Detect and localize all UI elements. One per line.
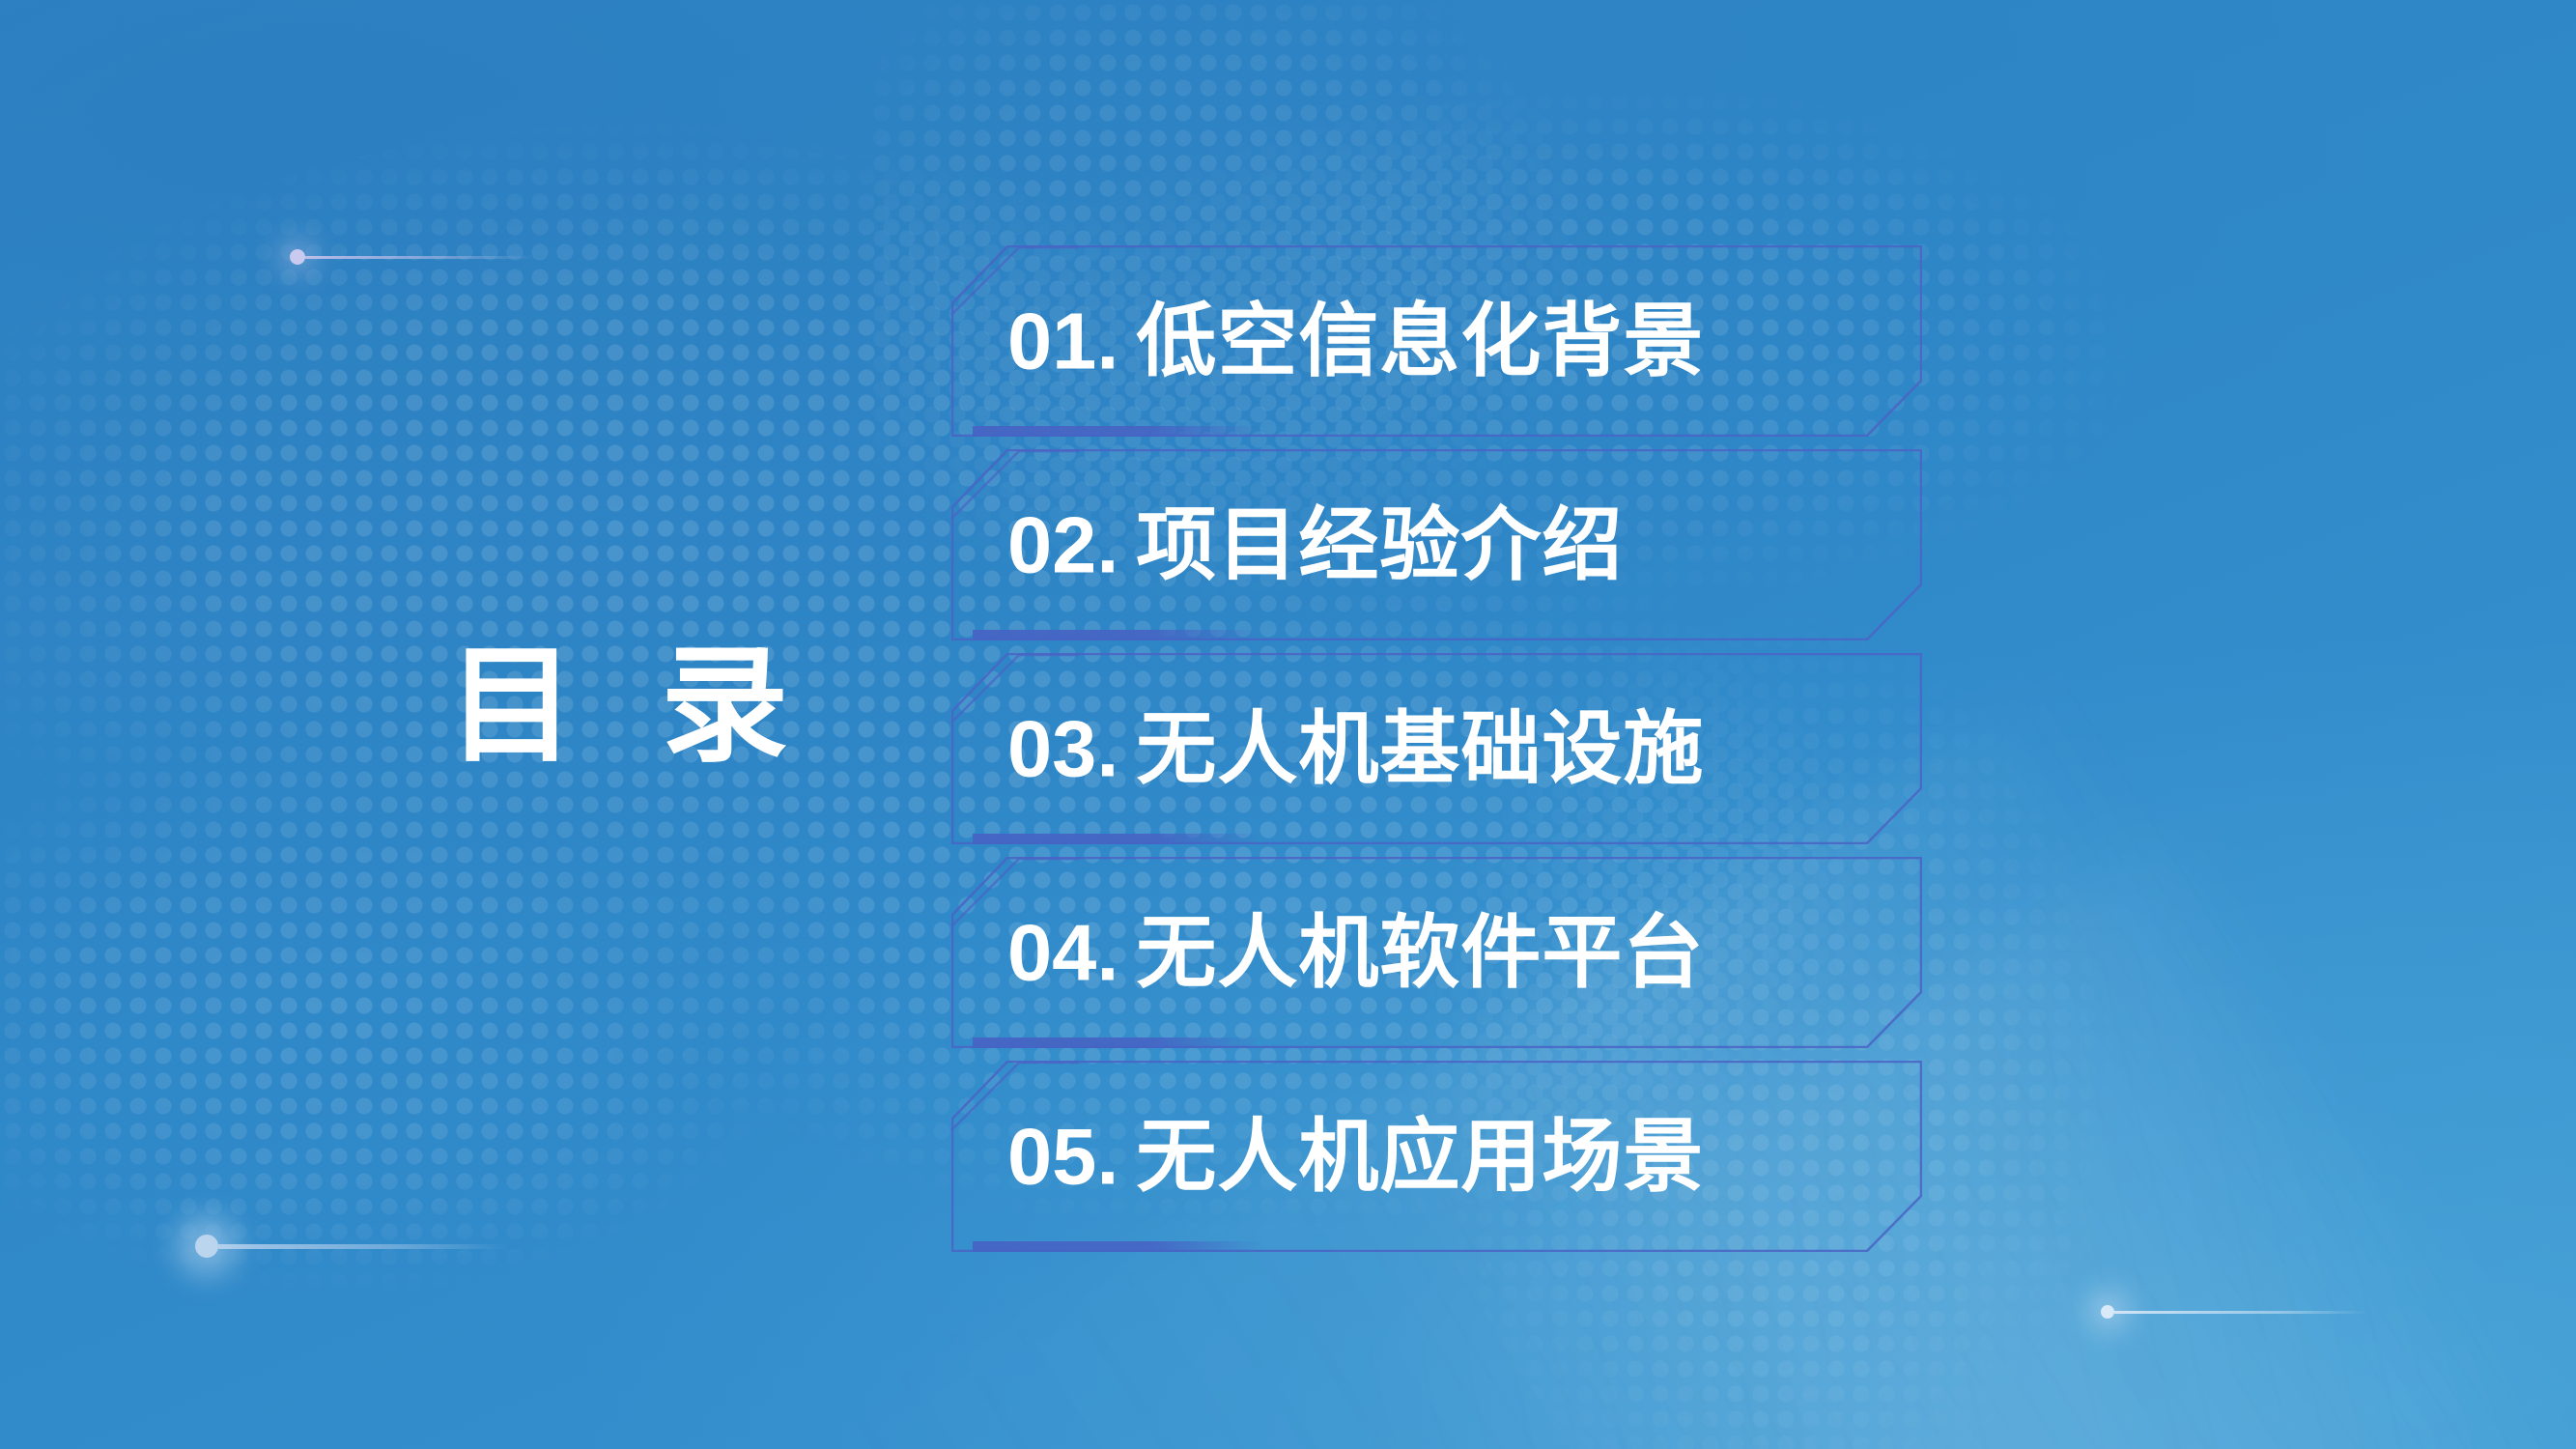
agenda-item-title: 低空信息化背景 (1136, 297, 1704, 386)
agenda-item-1[interactable]: 01.低空信息化背景 (951, 240, 1927, 442)
accent-dot-icon (195, 1235, 218, 1258)
agenda-frame-accent-bar (973, 834, 1262, 844)
accent-dot-icon (2101, 1305, 2114, 1319)
accent-trail-icon (218, 1244, 508, 1249)
agenda-item-3[interactable]: 03.无人机基础设施 (951, 647, 1927, 850)
agenda-frame-accent-bar (973, 426, 1262, 437)
accent-line-top-left (290, 249, 537, 265)
agenda-item-number: 01. (1007, 297, 1118, 386)
agenda-item-title: 无人机基础设施 (1136, 704, 1704, 794)
accent-dot-icon (290, 249, 305, 265)
slide-canvas: 目 录 01.低空信息化背景 (0, 0, 2576, 1449)
agenda-item-5[interactable]: 05.无人机应用场景 (951, 1055, 1927, 1258)
agenda-item-label: 04.无人机软件平台 (1007, 913, 1704, 993)
agenda-item-title: 无人机软件平台 (1136, 908, 1704, 998)
agenda-item-title: 项目经验介绍 (1136, 500, 1623, 590)
accent-trail-icon (305, 256, 537, 259)
agenda-item-label: 03.无人机基础设施 (1007, 709, 1704, 789)
agenda-item-title: 无人机应用场景 (1136, 1112, 1704, 1202)
agenda-frame-accent-bar (973, 1241, 1262, 1252)
agenda-title-block: 目 录 (415, 639, 821, 774)
agenda-item-number: 03. (1007, 704, 1118, 794)
agenda-frame-accent-bar (973, 1037, 1262, 1048)
agenda-item-number: 04. (1007, 908, 1118, 998)
accent-line-bottom-right (2101, 1305, 2367, 1319)
accent-trail-icon (2114, 1311, 2367, 1314)
agenda-item-label: 02.项目经验介绍 (1007, 505, 1623, 585)
agenda-frame-accent-bar (973, 630, 1262, 640)
agenda-item-number: 05. (1007, 1112, 1118, 1202)
agenda-item-2[interactable]: 02.项目经验介绍 (951, 443, 1927, 646)
agenda-item-number: 02. (1007, 500, 1118, 590)
agenda-item-label: 01.低空信息化背景 (1007, 301, 1704, 382)
agenda-list: 01.低空信息化背景 02.项目经验介绍 (951, 240, 1927, 1259)
accent-line-bottom-left (195, 1235, 508, 1258)
agenda-item-label: 05.无人机应用场景 (1007, 1117, 1704, 1197)
agenda-item-4[interactable]: 04.无人机软件平台 (951, 851, 1927, 1054)
agenda-title: 目 录 (415, 639, 821, 774)
